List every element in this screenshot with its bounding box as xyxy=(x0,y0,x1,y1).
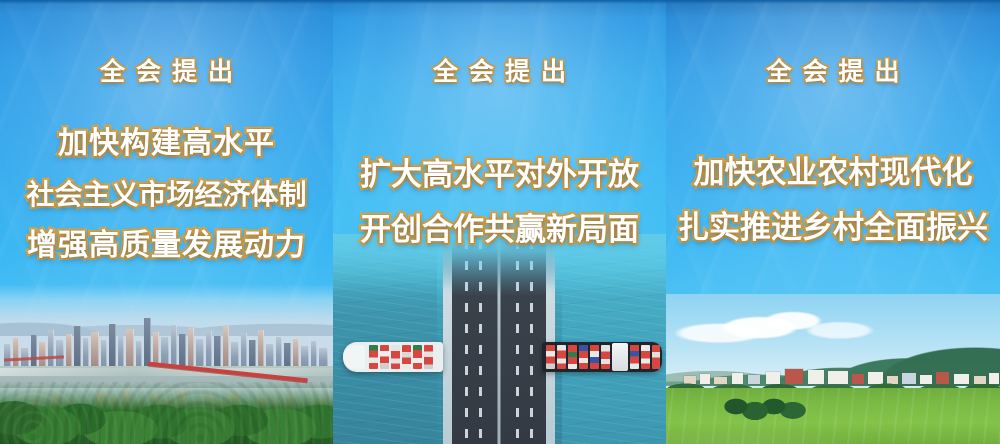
panel-1-line-1: 加快构建高水平 xyxy=(0,129,333,159)
panel-2-lines: 扩大高水平对外开放 开创合作共赢新局面 xyxy=(333,159,666,245)
city-skyline-buildings xyxy=(0,312,333,370)
panel-2-line-1: 扩大高水平对外开放 xyxy=(333,159,666,190)
panel-3-line-1: 加快农业农村现代化 xyxy=(666,157,1000,188)
panel-2-line-2: 开创合作共赢新局面 xyxy=(333,214,666,245)
city-forest-texture xyxy=(0,382,333,444)
rural-village-fields-photo xyxy=(666,294,1000,444)
panel-3-text-block: 全会提出 加快农业农村现代化 扎实推进乡村全面振兴 xyxy=(666,60,1000,267)
city-skyline-photo xyxy=(0,284,333,444)
ship-deckhouse xyxy=(612,343,628,371)
panel-1-line-3: 增强高质量发展动力 xyxy=(0,231,333,261)
panel-2-kicker: 全会提出 xyxy=(333,60,666,85)
poster-banner: 全会提出 加快构建高水平 社会主义市场经济体制 增强高质量发展动力 xyxy=(0,0,1000,444)
ship-bow xyxy=(343,345,365,369)
panel-1-line-2: 社会主义市场经济体制 xyxy=(0,181,333,209)
panel-opening-up: 全会提出 扩大高水平对外开放 开创合作共赢新局面 xyxy=(333,0,666,444)
panel-3-lines: 加快农业农村现代化 扎实推进乡村全面振兴 xyxy=(666,157,1000,243)
village-field-texture xyxy=(666,388,1000,444)
village-tree-copse xyxy=(724,390,810,420)
panel-rural-revitalization: 全会提出 加快农业农村现代化 扎实推进乡村全面振兴 xyxy=(666,0,1000,444)
container-ship-left xyxy=(343,342,443,372)
panel-2-text-block: 全会提出 扩大高水平对外开放 开创合作共赢新局面 xyxy=(333,60,666,269)
panel-3-line-2: 扎实推进乡村全面振兴 xyxy=(666,212,1000,243)
container-ship-right xyxy=(542,342,662,372)
panel-1-text-block: 全会提出 加快构建高水平 社会主义市场经济体制 增强高质量发展动力 xyxy=(0,60,333,283)
panel-3-kicker: 全会提出 xyxy=(666,60,1000,85)
panel-1-kicker: 全会提出 xyxy=(0,60,333,85)
panel-market-economy: 全会提出 加快构建高水平 社会主义市场经济体制 增强高质量发展动力 xyxy=(0,0,333,444)
panel-1-lines: 加快构建高水平 社会主义市场经济体制 增强高质量发展动力 xyxy=(0,129,333,261)
